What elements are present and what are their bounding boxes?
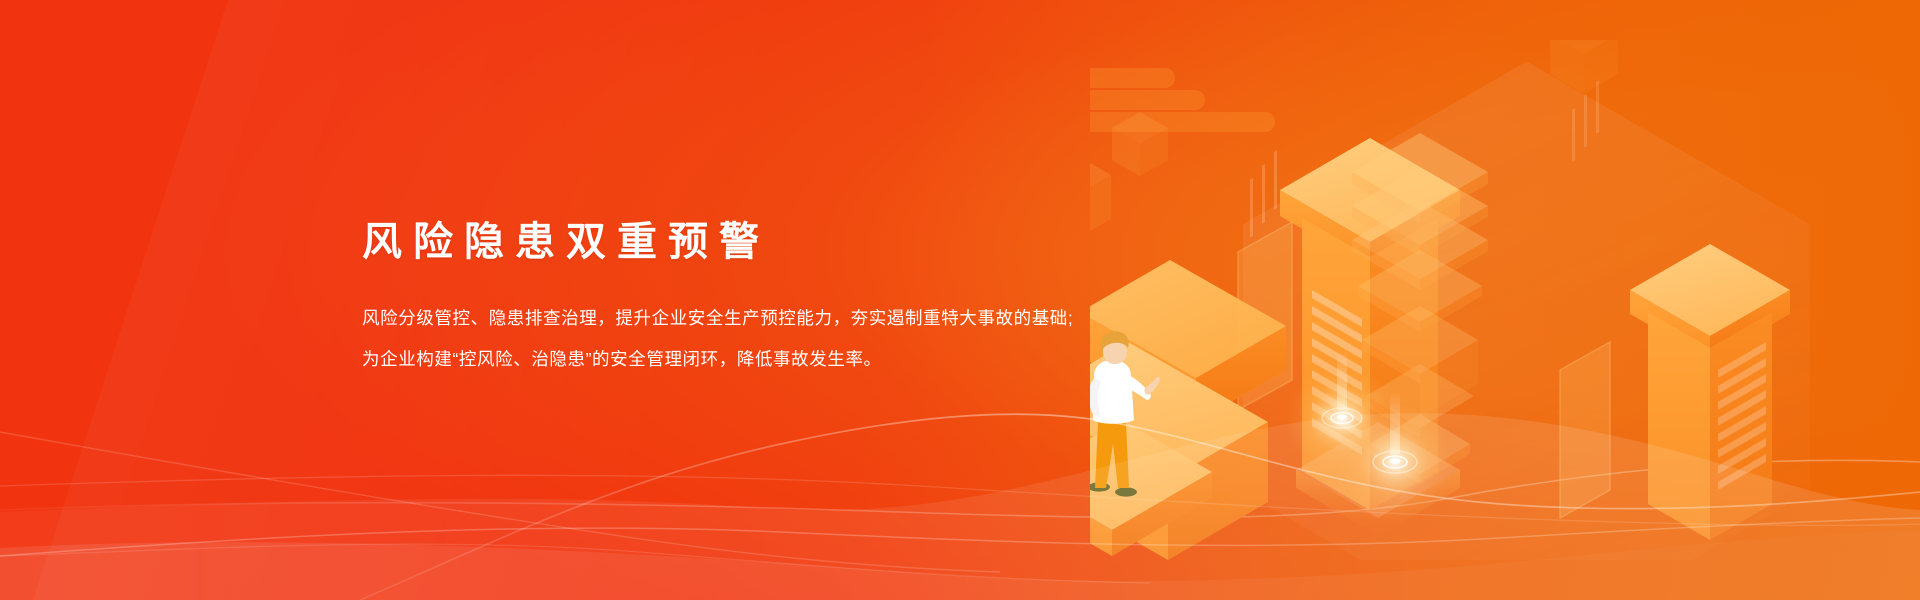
hero-banner: 风险隐患双重预警 风险分级管控、隐患排查治理，提升企业安全生产预控能力，夯实遏制… [0, 0, 1920, 600]
cloud-shape-top [1090, 68, 1275, 132]
banner-description: 风险分级管控、隐患排查治理，提升企业安全生产预控能力，夯实遏制重特大事故的基础;… [362, 298, 1182, 380]
description-line-1: 风险分级管控、隐患排查治理，提升企业安全生产预控能力，夯实遏制重特大事故的基础; [362, 298, 1182, 339]
banner-copy: 风险隐患双重预警 风险分级管控、隐患排查治理，提升企业安全生产预控能力，夯实遏制… [362, 222, 1182, 380]
description-line-2: 为企业构建“控风险、治隐患”的安全管理闭环，降低事故发生率。 [362, 339, 1182, 380]
page-title: 风险隐患双重预警 [362, 222, 1182, 262]
